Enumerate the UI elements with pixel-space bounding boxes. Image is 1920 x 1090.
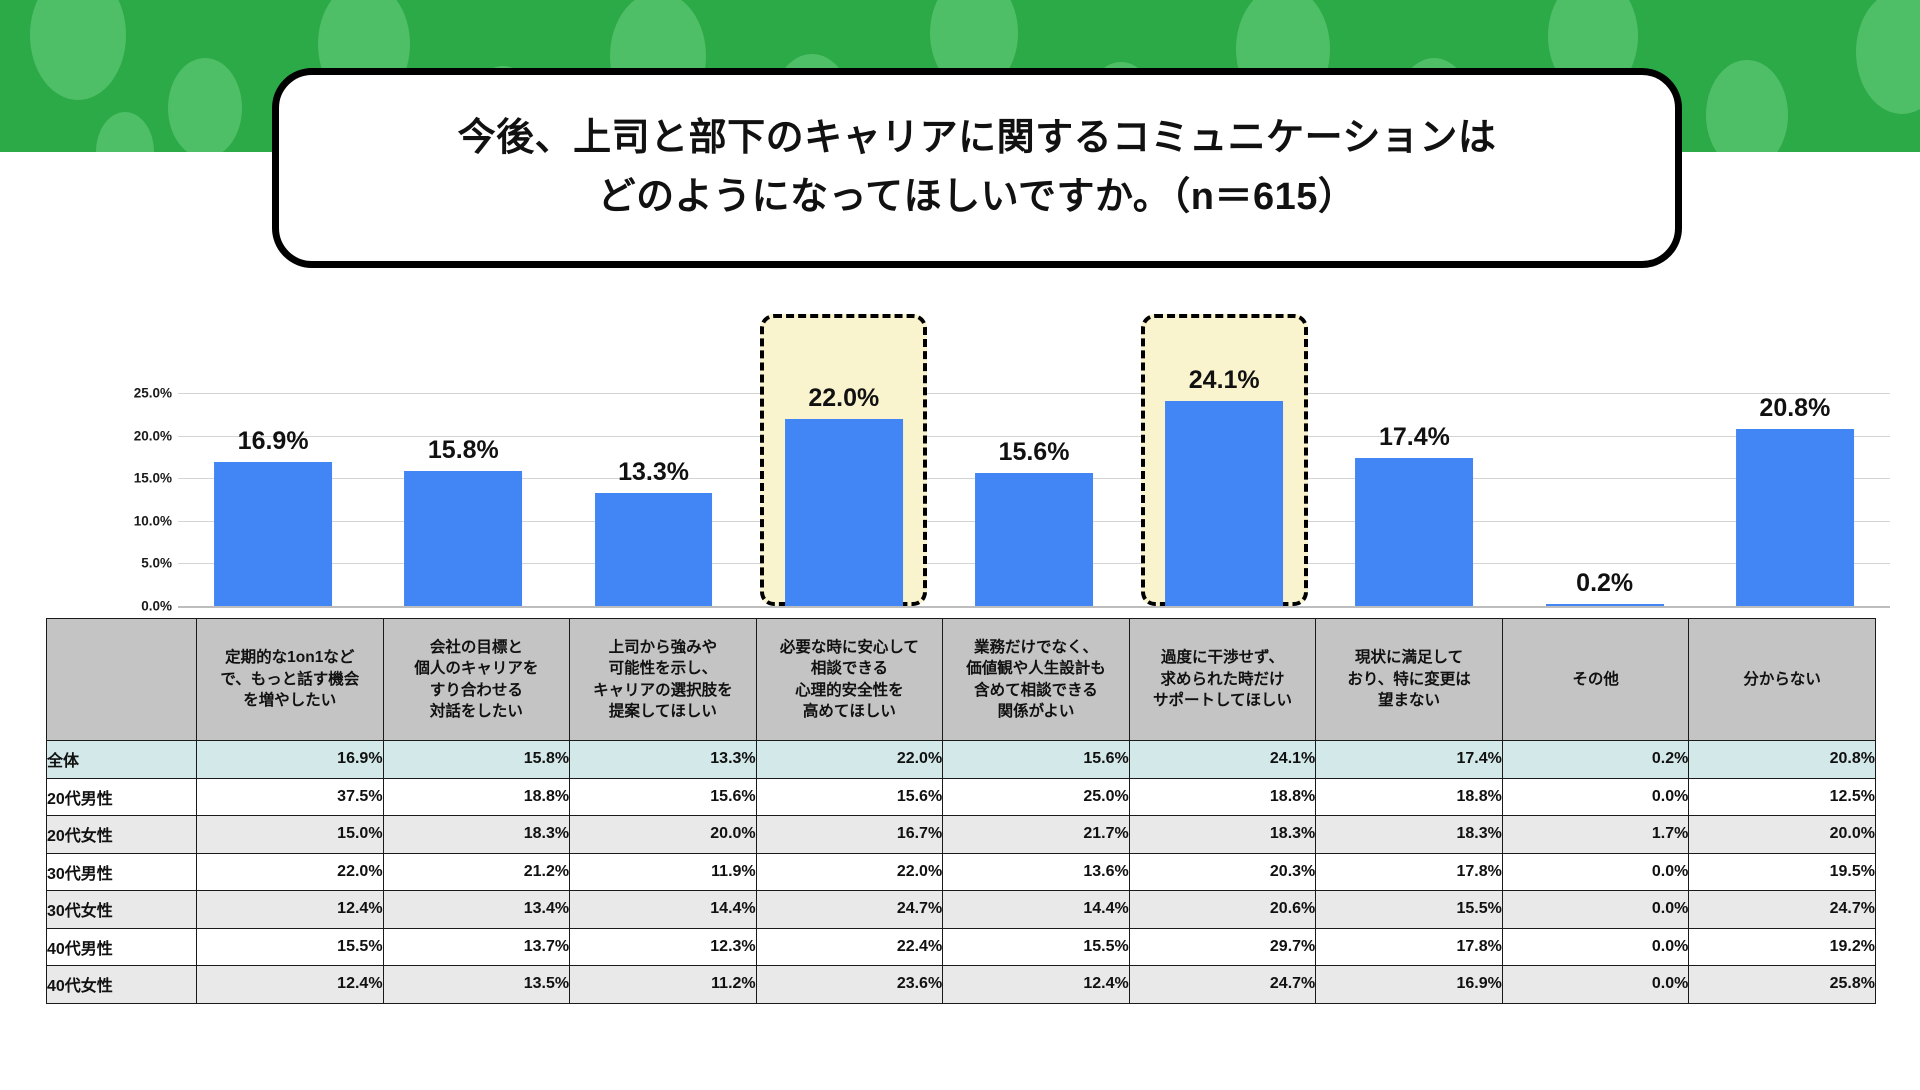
table-cell-value: 18.8% — [1316, 778, 1503, 816]
table-cell-value: 15.5% — [943, 928, 1130, 966]
column-header-line: 対話をしたい — [390, 701, 564, 722]
table-cell-value: 14.4% — [943, 891, 1130, 929]
bar — [975, 473, 1093, 606]
table-cell-value: 19.5% — [1689, 853, 1876, 891]
table-cell-value: 18.3% — [383, 816, 570, 854]
column-header-2: 会社の目標と個人のキャリアをすり合わせる対話をしたい — [383, 619, 570, 741]
column-header-line: 過度に干渉せず、 — [1136, 647, 1310, 668]
table-cell-value: 12.5% — [1689, 778, 1876, 816]
table-cell-value: 15.8% — [383, 741, 570, 779]
column-header-line: すり合わせる — [390, 680, 564, 701]
row-label: 20代男性 — [47, 778, 197, 816]
table-row: 40代女性12.4%13.5%11.2%23.6%12.4%24.7%16.9%… — [47, 966, 1876, 1004]
table-cell-value: 37.5% — [197, 778, 384, 816]
column-header-6: 過度に干渉せず、求められた時だけサポートしてほしい — [1129, 619, 1316, 741]
y-axis-tick-label: 5.0% — [141, 556, 172, 571]
banner-dot — [96, 112, 154, 152]
table-cell-value: 12.4% — [197, 966, 384, 1004]
bar — [214, 462, 332, 606]
table-cell-value: 20.3% — [1129, 853, 1316, 891]
table-cell-value: 22.0% — [197, 853, 384, 891]
table-cell-value: 25.8% — [1689, 966, 1876, 1004]
table-cell-value: 24.7% — [1689, 891, 1876, 929]
table-cell-value: 13.7% — [383, 928, 570, 966]
table-body: 全体16.9%15.8%13.3%22.0%15.6%24.1%17.4%0.2… — [47, 741, 1876, 1004]
column-header-line: で、もっと話す機会 — [203, 669, 377, 690]
bar-value-label: 15.8% — [428, 436, 499, 465]
column-header-line: 含めて相談できる — [949, 680, 1123, 701]
table-cell-value: 16.9% — [197, 741, 384, 779]
column-header-line: 定期的な1on1など — [203, 647, 377, 668]
table-cell-value: 12.4% — [943, 966, 1130, 1004]
table-cell-value: 19.2% — [1689, 928, 1876, 966]
banner-dot — [30, 0, 126, 100]
bar-value-label: 20.8% — [1759, 394, 1830, 423]
table-cell-value: 13.6% — [943, 853, 1130, 891]
y-axis-tick-label: 25.0% — [134, 386, 172, 401]
row-label: 20代女性 — [47, 816, 197, 854]
table-cell-value: 18.3% — [1316, 816, 1503, 854]
bar-value-label: 15.6% — [999, 438, 1070, 467]
banner-dot — [1856, 0, 1920, 114]
table-cell-value: 1.7% — [1502, 816, 1689, 854]
table-row: 20代男性37.5%18.8%15.6%15.6%25.0%18.8%18.8%… — [47, 778, 1876, 816]
banner-dot — [168, 58, 242, 152]
bar-slot: 13.3% — [558, 376, 748, 606]
table-cell-value: 13.3% — [570, 741, 757, 779]
bar-value-label: 16.9% — [238, 427, 309, 456]
table-cell-value: 22.0% — [756, 741, 943, 779]
y-axis-tick-label: 0.0% — [141, 599, 172, 614]
column-header-9: 分からない — [1689, 619, 1876, 741]
table-cell-value: 20.0% — [1689, 816, 1876, 854]
column-header-line: 上司から強みや — [576, 637, 750, 658]
table-cell-value: 20.0% — [570, 816, 757, 854]
table-cell-value: 0.0% — [1502, 853, 1689, 891]
column-header-7: 現状に満足しており、特に変更は望まない — [1316, 619, 1503, 741]
table-cell-value: 21.2% — [383, 853, 570, 891]
table-cell-value: 20.8% — [1689, 741, 1876, 779]
table-cell-value: 22.0% — [756, 853, 943, 891]
table-cell-value: 0.0% — [1502, 891, 1689, 929]
bar — [1546, 604, 1664, 606]
title-callout-box: 今後、上司と部下のキャリアに関するコミュニケーションは どのようになってほしいで… — [272, 68, 1682, 268]
column-header-line: 個人のキャリアを — [390, 658, 564, 679]
table-cell-value: 13.5% — [383, 966, 570, 1004]
table-cell-value: 20.6% — [1129, 891, 1316, 929]
table-cell-value: 18.3% — [1129, 816, 1316, 854]
table-cell-value: 17.8% — [1316, 928, 1503, 966]
title-line-1: 今後、上司と部下のキャリアに関するコミュニケーションは — [458, 109, 1497, 168]
table-cell-value: 14.4% — [570, 891, 757, 929]
table-cell-value: 15.6% — [570, 778, 757, 816]
table-head: 定期的な1on1などで、もっと話す機会を増やしたい会社の目標と個人のキャリアをす… — [47, 619, 1876, 741]
table-cell-value: 0.0% — [1502, 778, 1689, 816]
column-header-4: 必要な時に安心して相談できる心理的安全性を高めてほしい — [756, 619, 943, 741]
table-corner-cell — [47, 619, 197, 741]
table-row: 30代女性12.4%13.4%14.4%24.7%14.4%20.6%15.5%… — [47, 891, 1876, 929]
y-axis-tick-label: 15.0% — [134, 471, 172, 486]
bar — [404, 471, 522, 606]
table-cell-value: 11.2% — [570, 966, 757, 1004]
bar-value-label: 22.0% — [808, 384, 879, 413]
table-cell-value: 0.0% — [1502, 928, 1689, 966]
table-cell-value: 12.4% — [197, 891, 384, 929]
bar — [1165, 401, 1283, 606]
column-header-line: 会社の目標と — [390, 637, 564, 658]
table-cell-value: 25.0% — [943, 778, 1130, 816]
table-cell-value: 15.6% — [943, 741, 1130, 779]
bar-value-label: 17.4% — [1379, 423, 1450, 452]
column-header-5: 業務だけでなく、価値観や人生設計も含めて相談できる関係がよい — [943, 619, 1130, 741]
table-cell-value: 12.3% — [570, 928, 757, 966]
column-header-line: 望まない — [1322, 690, 1496, 711]
bar-slot: 17.4% — [1319, 376, 1509, 606]
survey-infographic-page: 今後、上司と部下のキャリアに関するコミュニケーションは どのようになってほしいで… — [0, 0, 1920, 1090]
bar — [595, 493, 713, 606]
column-header-line: 業務だけでなく、 — [949, 637, 1123, 658]
row-label: 30代女性 — [47, 891, 197, 929]
bar-slot: 16.9% — [178, 376, 368, 606]
column-header-line: 分からない — [1695, 669, 1869, 690]
table-cell-value: 15.5% — [197, 928, 384, 966]
bar-chart: 25.0%20.0%15.0%10.0%5.0%0.0% 16.9%15.8%1… — [0, 330, 1920, 620]
y-axis-tick-label: 20.0% — [134, 428, 172, 443]
bar-value-label: 0.2% — [1576, 569, 1633, 598]
column-header-1: 定期的な1on1などで、もっと話す機会を増やしたい — [197, 619, 384, 741]
data-table: 定期的な1on1などで、もっと話す機会を増やしたい会社の目標と個人のキャリアをす… — [46, 618, 1876, 1004]
column-header-line: 相談できる — [763, 658, 937, 679]
column-header-line: 求められた時だけ — [1136, 669, 1310, 690]
column-header-line: おり、特に変更は — [1322, 669, 1496, 690]
table-cell-value: 23.6% — [756, 966, 943, 1004]
table-cell-value: 16.7% — [756, 816, 943, 854]
table-row: 全体16.9%15.8%13.3%22.0%15.6%24.1%17.4%0.2… — [47, 741, 1876, 779]
table-cell-value: 22.4% — [756, 928, 943, 966]
table-header-row: 定期的な1on1などで、もっと話す機会を増やしたい会社の目標と個人のキャリアをす… — [47, 619, 1876, 741]
y-axis-tick-label: 10.0% — [134, 513, 172, 528]
table-cell-value: 13.4% — [383, 891, 570, 929]
column-header-line: キャリアの選択肢を — [576, 680, 750, 701]
table-cell-value: 0.2% — [1502, 741, 1689, 779]
table-row: 20代女性15.0%18.3%20.0%16.7%21.7%18.3%18.3%… — [47, 816, 1876, 854]
column-header-line: を増やしたい — [203, 690, 377, 711]
table-cell-value: 17.4% — [1316, 741, 1503, 779]
column-header-line: 可能性を示し、 — [576, 658, 750, 679]
column-header-line: 提案してほしい — [576, 701, 750, 722]
bar — [1355, 458, 1473, 606]
column-header-3: 上司から強みや可能性を示し、キャリアの選択肢を提案してほしい — [570, 619, 757, 741]
table-cell-value: 18.8% — [383, 778, 570, 816]
bar-slot: 15.6% — [939, 376, 1129, 606]
bar-value-label: 13.3% — [618, 458, 689, 487]
column-header-line: 高めてほしい — [763, 701, 937, 722]
table-cell-value: 24.7% — [756, 891, 943, 929]
table-cell-value: 15.6% — [756, 778, 943, 816]
bar — [785, 419, 903, 606]
chart-plot-area: 16.9%15.8%13.3%22.0%15.6%24.1%17.4%0.2%2… — [178, 376, 1890, 606]
table-cell-value: 18.8% — [1129, 778, 1316, 816]
title-line-2: どのようになってほしいですか。（n＝615） — [598, 168, 1357, 227]
table-cell-value: 29.7% — [1129, 928, 1316, 966]
table-row: 40代男性15.5%13.7%12.3%22.4%15.5%29.7%17.8%… — [47, 928, 1876, 966]
bar-slot: 20.8% — [1700, 376, 1890, 606]
bar-value-label: 24.1% — [1189, 366, 1260, 395]
column-header-line: 必要な時に安心して — [763, 637, 937, 658]
column-header-8: その他 — [1502, 619, 1689, 741]
table-cell-value: 17.8% — [1316, 853, 1503, 891]
table-row: 30代男性22.0%21.2%11.9%22.0%13.6%20.3%17.8%… — [47, 853, 1876, 891]
banner-dot — [1706, 60, 1788, 152]
table-cell-value: 11.9% — [570, 853, 757, 891]
bar — [1736, 429, 1854, 606]
table-cell-value: 21.7% — [943, 816, 1130, 854]
column-header-line: サポートしてほしい — [1136, 690, 1310, 711]
data-table-wrapper: 定期的な1on1などで、もっと話す機会を増やしたい会社の目標と個人のキャリアをす… — [46, 618, 1876, 1004]
x-axis-line — [178, 606, 1890, 608]
column-header-line: 心理的安全性を — [763, 680, 937, 701]
row-label: 全体 — [47, 741, 197, 779]
row-label: 40代女性 — [47, 966, 197, 1004]
table-cell-value: 15.0% — [197, 816, 384, 854]
column-header-line: 関係がよい — [949, 701, 1123, 722]
table-cell-value: 15.5% — [1316, 891, 1503, 929]
table-cell-value: 16.9% — [1316, 966, 1503, 1004]
table-cell-value: 0.0% — [1502, 966, 1689, 1004]
column-header-line: 現状に満足して — [1322, 647, 1496, 668]
table-cell-value: 24.1% — [1129, 741, 1316, 779]
table-cell-value: 24.7% — [1129, 966, 1316, 1004]
row-label: 30代男性 — [47, 853, 197, 891]
column-header-line: 価値観や人生設計も — [949, 658, 1123, 679]
bar-slot: 15.8% — [368, 376, 558, 606]
bar-slot: 0.2% — [1510, 376, 1700, 606]
column-header-line: その他 — [1509, 669, 1683, 690]
row-label: 40代男性 — [47, 928, 197, 966]
y-axis-labels: 25.0%20.0%15.0%10.0%5.0%0.0% — [100, 376, 172, 606]
